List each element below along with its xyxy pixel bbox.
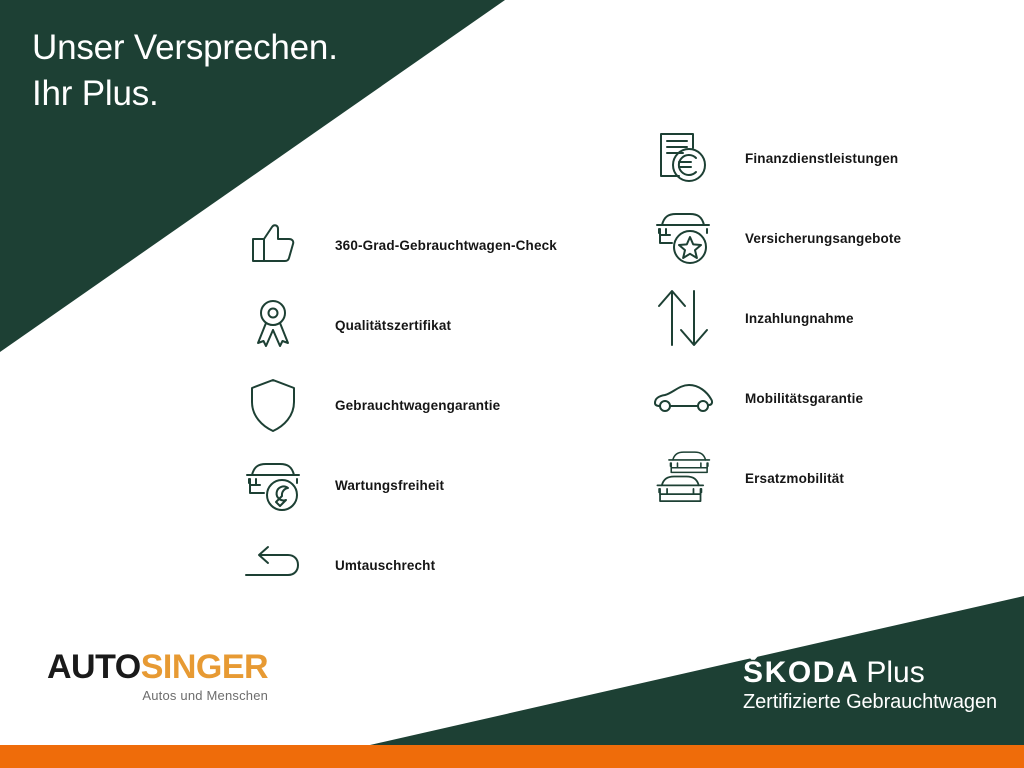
feature-label: Mobilitätsgarantie	[745, 391, 863, 406]
car-side-icon	[648, 381, 718, 415]
feature-label: Wartungsfreiheit	[335, 478, 444, 493]
skoda-plus-wordmark: ŠKODAPlus	[743, 657, 997, 689]
shield-icon	[238, 376, 308, 434]
feature-label: Gebrauchtwagengarantie	[335, 398, 500, 413]
feature-label: 360-Grad-Gebrauchtwagen-Check	[335, 238, 557, 253]
award-rosette-icon	[238, 298, 308, 352]
car-wrench-icon	[238, 457, 308, 513]
feature-list-right: Finanzdienstleistungen Versicherungsange…	[648, 118, 901, 518]
feature-item-mobility-guarantee: Mobilitätsgarantie	[648, 358, 901, 438]
dealer-logo-singer: SINGER	[141, 648, 268, 686]
feature-label: Finanzdienstleistungen	[745, 151, 898, 166]
feature-label: Inzahlungnahme	[745, 311, 854, 326]
dealer-logo[interactable]: AUTOSINGER Autos und Menschen	[47, 650, 268, 703]
feature-item-replacement-mobility: Ersatzmobilität	[648, 438, 901, 518]
feature-item-exchange-right: Umtauschrecht	[238, 525, 557, 605]
page-title: Unser Versprechen. Ihr Plus.	[32, 25, 338, 117]
feature-list-left: 360-Grad-Gebrauchtwagen-Check Qualitätsz…	[238, 205, 557, 605]
skoda-plus-subtitle: Zertifizierte Gebrauchtwagen	[743, 690, 997, 714]
feature-item-insurance: Versicherungsangebote	[648, 198, 901, 278]
return-arrow-icon	[238, 543, 308, 587]
dealer-logo-wordmark: AUTOSINGER	[47, 650, 268, 684]
feature-label: Qualitätszertifikat	[335, 318, 451, 333]
feature-item-financial-services: Finanzdienstleistungen	[648, 118, 901, 198]
feature-item-360-check: 360-Grad-Gebrauchtwagen-Check	[238, 205, 557, 285]
skoda-plus-logo[interactable]: ŠKODAPlus Zertifizierte Gebrauchtwagen	[743, 657, 997, 714]
feature-label: Ersatzmobilität	[745, 471, 844, 486]
feature-label: Versicherungsangebote	[745, 231, 901, 246]
feature-label: Umtauschrecht	[335, 558, 435, 573]
headline-line-1: Unser Versprechen.	[32, 25, 338, 71]
document-euro-icon	[648, 128, 718, 188]
feature-item-maintenance-free: Wartungsfreiheit	[238, 445, 557, 525]
up-down-arrows-icon	[648, 287, 718, 349]
car-star-icon	[648, 209, 718, 267]
thumbs-up-icon	[238, 219, 308, 271]
dealer-logo-auto: AUTO	[47, 648, 141, 686]
headline-line-2: Ihr Plus.	[32, 71, 338, 117]
dealer-logo-tagline: Autos und Menschen	[47, 688, 268, 703]
skoda-mark: ŠKODA	[743, 656, 859, 689]
feature-item-quality-certificate: Qualitätszertifikat	[238, 285, 557, 365]
orange-footer-bar	[0, 745, 1024, 768]
feature-item-trade-in: Inzahlungnahme	[648, 278, 901, 358]
two-cars-icon	[648, 447, 718, 509]
feature-item-warranty: Gebrauchtwagengarantie	[238, 365, 557, 445]
skoda-plus-suffix: Plus	[866, 656, 924, 689]
promo-banner: Unser Versprechen. Ihr Plus. 360-Grad-Ge…	[0, 0, 1024, 768]
